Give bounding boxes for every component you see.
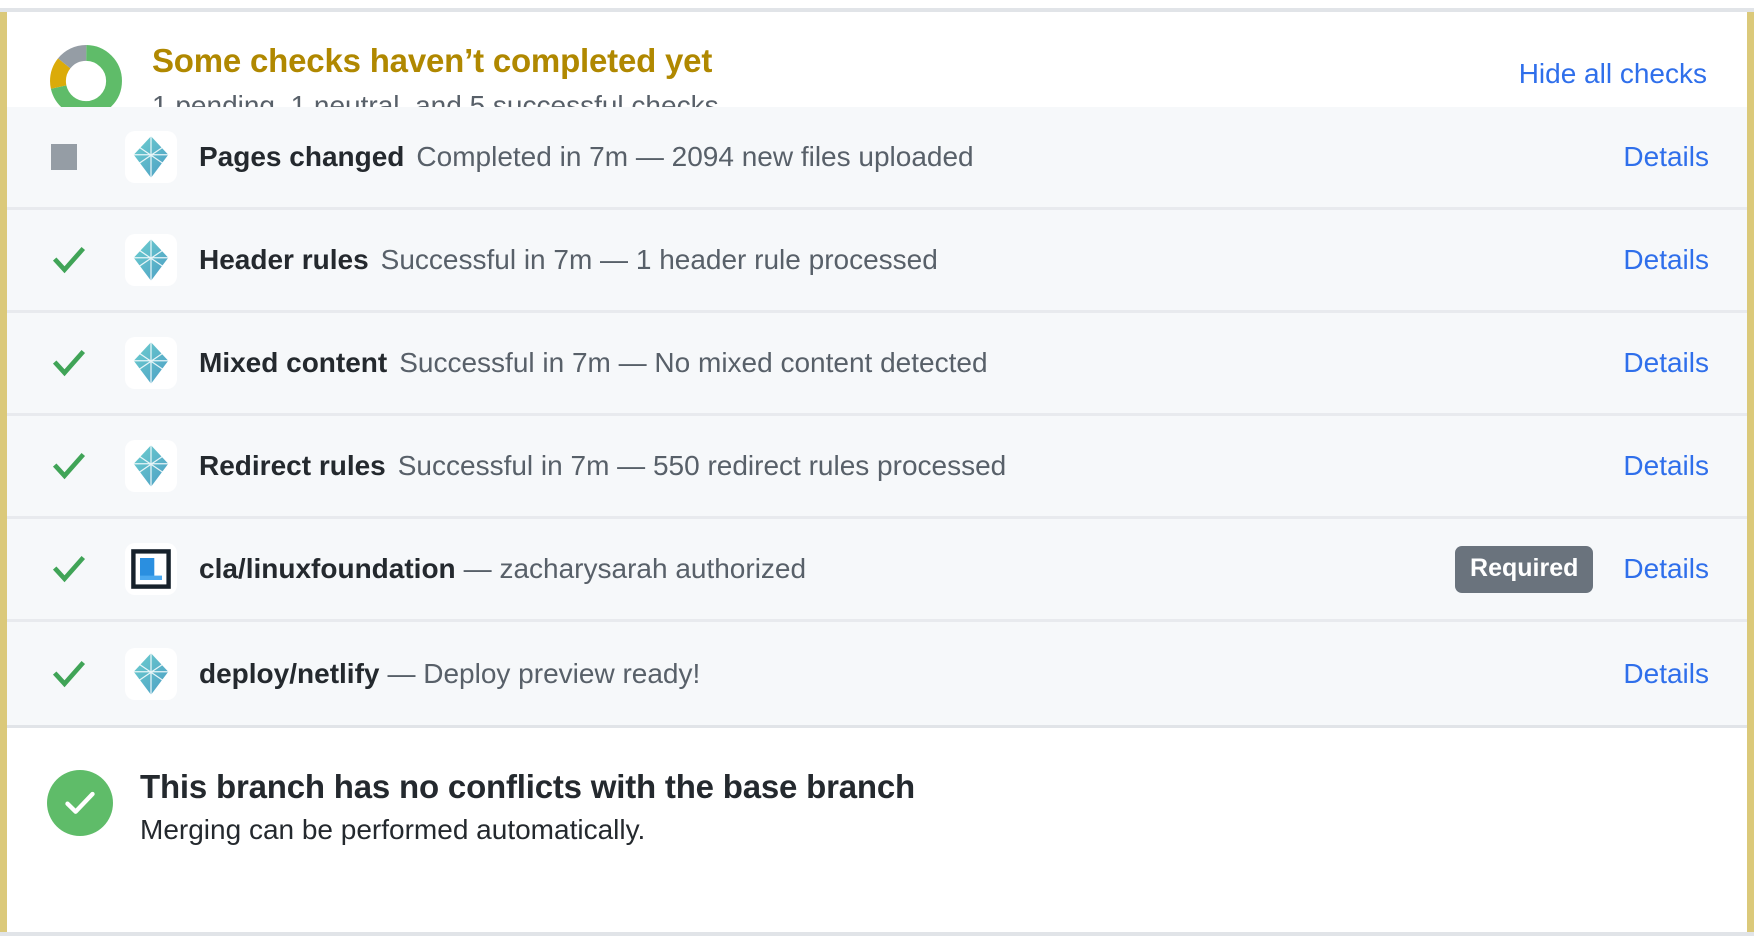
check-description: Successful in 7m — No mixed content dete…	[399, 346, 987, 380]
checks-list: Pages changed Completed in 7m — 2094 new…	[7, 160, 1747, 725]
merge-status-subtitle: Merging can be performed automatically.	[140, 812, 915, 848]
check-description: — Deploy preview ready!	[387, 657, 700, 691]
hide-all-checks-link[interactable]: Hide all checks	[1519, 56, 1707, 92]
check-description: Successful in 7m — 550 redirect rules pr…	[398, 449, 1007, 483]
checks-status-panel: Some checks haven’t completed yet 1 pend…	[0, 12, 1754, 935]
merge-status-section: This branch has no conflicts with the ba…	[7, 725, 1747, 888]
check-name: Header rules	[199, 243, 369, 277]
table-row[interactable]: cla/linuxfoundation — zacharysarah autho…	[7, 519, 1747, 622]
check-name: cla/linuxfoundation	[199, 552, 456, 586]
netlify-diamond-icon	[125, 131, 177, 183]
checks-header-title: Some checks haven’t completed yet	[152, 40, 1709, 82]
check-name: Pages changed	[199, 140, 404, 174]
details-link[interactable]: Details	[1623, 140, 1709, 174]
netlify-diamond-icon	[125, 440, 177, 492]
details-link[interactable]: Details	[1623, 552, 1709, 586]
check-name: Mixed content	[199, 346, 387, 380]
pull-request-checks-panel: Some checks haven’t completed yet 1 pend…	[0, 0, 1754, 946]
details-link[interactable]: Details	[1623, 243, 1709, 277]
green-check-icon	[51, 656, 103, 692]
linuxfoundation-cla-icon	[125, 543, 177, 595]
check-description: — zacharysarah authorized	[464, 552, 806, 586]
check-name: Redirect rules	[199, 449, 386, 483]
check-name: deploy/netlify	[199, 657, 379, 691]
details-link[interactable]: Details	[1623, 657, 1709, 691]
details-link[interactable]: Details	[1623, 346, 1709, 380]
checks-list-scroll-area[interactable]: Pages changed Completed in 7m — 2094 new…	[7, 107, 1747, 725]
merge-status-title: This branch has no conflicts with the ba…	[140, 766, 915, 808]
gray-square-icon	[51, 144, 103, 170]
table-row[interactable]: Redirect rules Successful in 7m — 550 re…	[7, 416, 1747, 519]
netlify-diamond-icon	[125, 234, 177, 286]
green-check-icon	[51, 448, 103, 484]
green-check-circle-icon	[47, 770, 113, 836]
table-row[interactable]: Header rules Successful in 7m — 1 header…	[7, 210, 1747, 313]
table-row[interactable]: Mixed content Successful in 7m — No mixe…	[7, 313, 1747, 416]
green-check-icon	[51, 242, 103, 278]
bottom-divider	[0, 932, 1754, 936]
netlify-diamond-icon	[125, 648, 177, 700]
netlify-diamond-icon	[125, 337, 177, 389]
table-row[interactable]: deploy/netlify — Deploy preview ready! D…	[7, 622, 1747, 725]
merge-status-text: This branch has no conflicts with the ba…	[140, 766, 915, 848]
details-link[interactable]: Details	[1623, 449, 1709, 483]
green-check-icon	[51, 345, 103, 381]
table-row[interactable]: Pages changed Completed in 7m — 2094 new…	[7, 107, 1747, 210]
check-description: Completed in 7m — 2094 new files uploade…	[416, 140, 973, 174]
check-description: Successful in 7m — 1 header rule process…	[381, 243, 938, 277]
green-check-icon	[51, 551, 103, 587]
status-badge: Required	[1455, 546, 1593, 593]
